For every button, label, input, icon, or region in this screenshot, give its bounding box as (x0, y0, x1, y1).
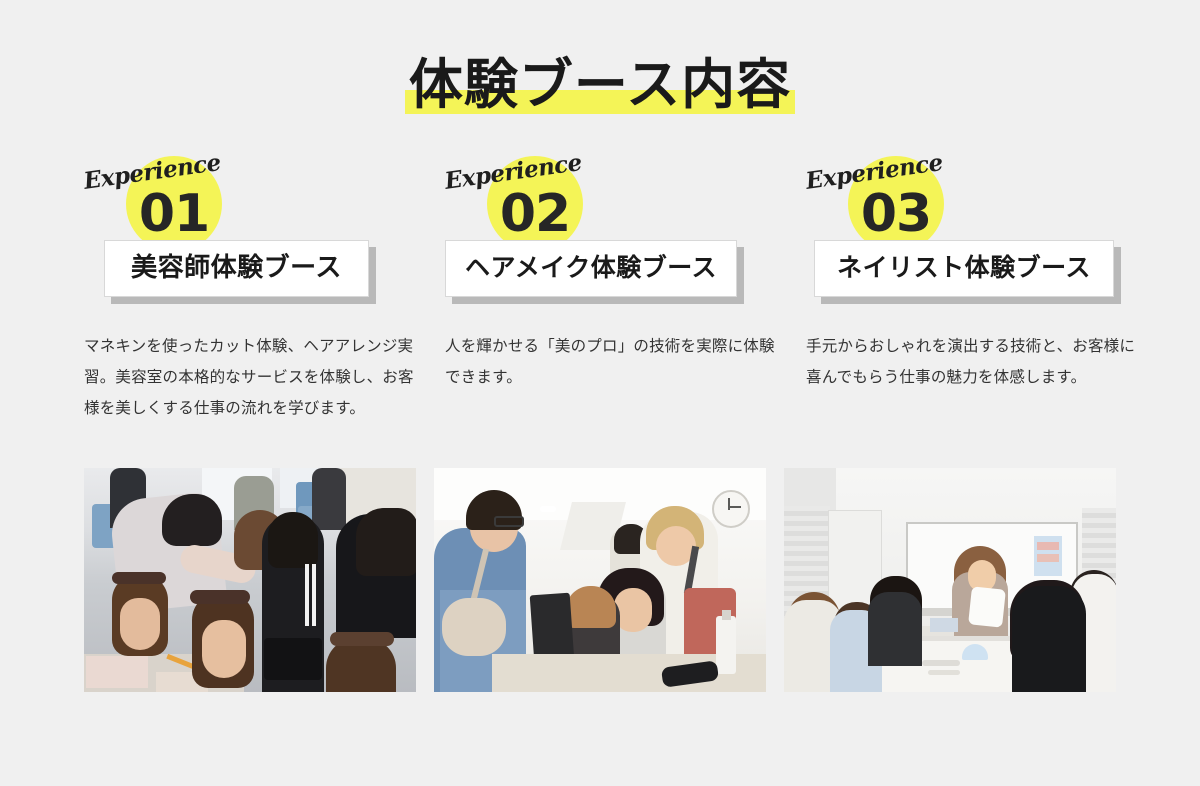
page-title: 体験ブース内容 (405, 54, 795, 116)
booth-description-02: 人を輝かせる「美のプロ」の技術を実際に体験できます。 (445, 331, 775, 393)
experience-card-01: Experience 01 美容師体験ブース マネキンを使ったカット体験、ヘアア… (84, 152, 395, 440)
badge-number-label: 02 (487, 186, 583, 242)
booth-label-box-03: ネイリスト体験ブース (814, 240, 1114, 297)
experience-card-03: Experience 03 ネイリスト体験ブース 手元からおしゃれを演出する技術… (806, 152, 1117, 440)
booth-description-01: マネキンを使ったカット体験、ヘアアレンジ実習。美容室の本格的なサービスを体験し、… (84, 331, 414, 424)
experience-badge-03: Experience 03 (806, 152, 1117, 252)
booth-photo-02 (434, 468, 766, 692)
experience-columns: Experience 01 美容師体験ブース マネキンを使ったカット体験、ヘアア… (84, 152, 1116, 440)
booth-label-text: 美容師体験ブース (115, 252, 358, 284)
experience-badge-02: Experience 02 (445, 152, 756, 252)
page-title-text: 体験ブース内容 (409, 53, 791, 116)
booth-description-03: 手元からおしゃれを演出する技術と、お客様に喜んでもらう仕事の魅力を体感します。 (806, 331, 1136, 393)
badge-number-label: 01 (126, 186, 222, 242)
booth-label-text: ヘアメイク体験ブース (456, 252, 726, 284)
booth-label-text: ネイリスト体験ブース (825, 252, 1103, 284)
badge-number-label: 03 (848, 186, 944, 242)
booth-photo-01 (84, 468, 416, 692)
experience-booth-section: 体験ブース内容 Experience 01 美容師体験ブース マネキンを使ったカ… (0, 0, 1200, 786)
experience-badge-01: Experience 01 (84, 152, 395, 252)
experience-card-02: Experience 02 ヘアメイク体験ブース 人を輝かせる「美のプロ」の技術… (445, 152, 756, 440)
booth-photo-03 (784, 468, 1116, 692)
photo-row (84, 468, 1116, 692)
page-title-wrapper: 体験ブース内容 (0, 18, 1200, 152)
booth-label-box-02: ヘアメイク体験ブース (445, 240, 737, 297)
booth-label-box-01: 美容師体験ブース (104, 240, 369, 297)
